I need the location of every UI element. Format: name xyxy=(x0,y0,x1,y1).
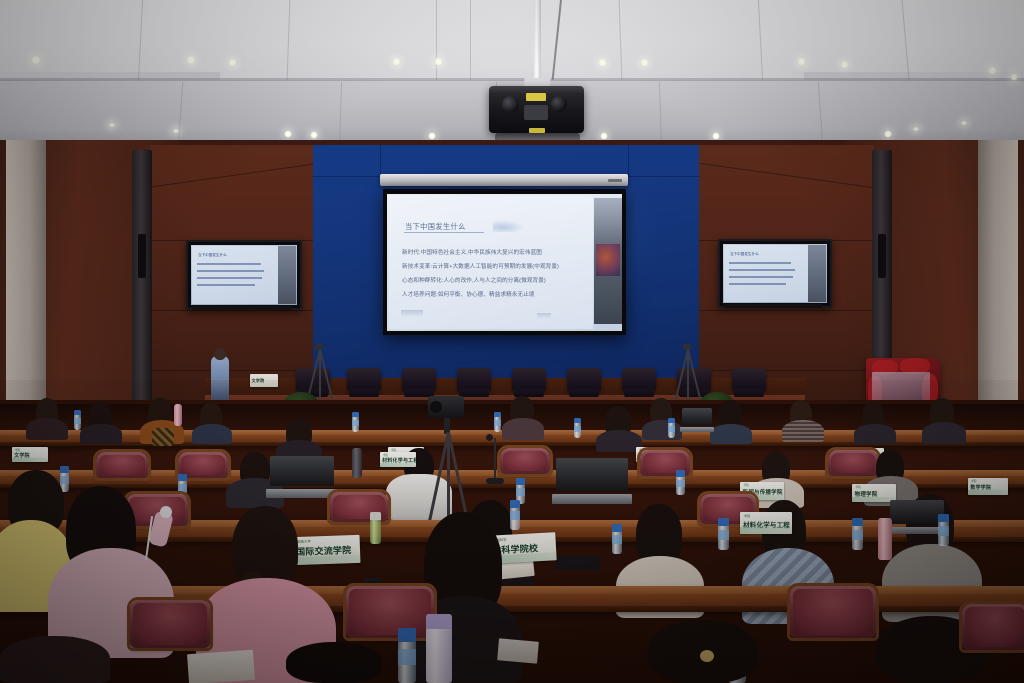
audience-chair xyxy=(828,450,878,476)
slide-bullet: 心态和种群转化:人心的改作,人与人之间的分离(微观背景) xyxy=(402,276,546,284)
ceiling-downlight xyxy=(434,57,443,66)
stage-chair xyxy=(512,368,546,390)
water-bottle xyxy=(398,628,416,683)
ceiling-downlight xyxy=(712,132,720,140)
left-monitor-slide-title: 当下中国发生什么 xyxy=(198,253,227,258)
water-bottle xyxy=(852,518,863,550)
thermos xyxy=(174,404,182,426)
audience-chair xyxy=(96,452,148,478)
wall-column-right xyxy=(978,140,1018,440)
audience-chair xyxy=(500,448,550,474)
stage-chair xyxy=(402,368,436,390)
desk-placard: 学院 文学院 xyxy=(12,447,48,462)
attendee-body xyxy=(192,424,232,444)
ceiling-seam xyxy=(470,0,471,80)
right-monitor-screen: 当下中国发生什么 xyxy=(723,244,827,303)
pink-thermos xyxy=(878,518,892,560)
wall-seam xyxy=(150,370,315,371)
ceiling-downlight xyxy=(598,58,607,67)
stage-tripod-right xyxy=(678,344,696,400)
water-bottle xyxy=(74,410,81,430)
water-bottle xyxy=(718,518,729,550)
laptop xyxy=(890,500,944,534)
audience-chair xyxy=(790,586,876,638)
ceiling-downlight xyxy=(228,58,237,67)
water-bottle xyxy=(612,524,622,554)
stage-chair xyxy=(622,368,656,390)
ceiling-downlight xyxy=(1010,73,1018,81)
stage-chair xyxy=(457,368,491,390)
laptop xyxy=(682,408,712,432)
green-drink-bottle xyxy=(370,512,381,544)
desk-placard: 学院 材料化学与工程 xyxy=(380,452,416,467)
microphone-base xyxy=(486,478,504,484)
right-monitor-slide-title: 当下中国发生什么 xyxy=(730,252,759,257)
foreground-body xyxy=(0,636,110,683)
audience-chair xyxy=(346,586,434,638)
left-monitor-shadow xyxy=(192,306,292,310)
thermos xyxy=(352,448,362,478)
desk-placard: 学院 数学学院 xyxy=(968,478,1008,495)
left-wall-monitor: 当下中国发生什么 xyxy=(186,240,302,310)
water-bottle xyxy=(574,418,581,438)
left-monitor-sidebar xyxy=(278,246,296,304)
right-monitor-slide: 当下中国发生什么 xyxy=(724,245,808,302)
left-monitor-slide: 当下中国发生什么 xyxy=(192,246,278,304)
attendee-body xyxy=(710,424,752,444)
hair-clip xyxy=(700,650,714,662)
wall-seam xyxy=(699,310,874,311)
screen-roller-casing xyxy=(380,174,628,186)
video-camera-rig[interactable] xyxy=(420,396,472,526)
screen-glare xyxy=(387,194,622,254)
ceiling-downlight xyxy=(600,132,608,140)
papers xyxy=(497,638,539,663)
right-monitor-shadow xyxy=(724,304,822,308)
ceiling-downlight xyxy=(428,132,436,140)
stage-placard: 文学院 xyxy=(250,374,278,387)
stage-chair xyxy=(347,368,381,390)
foreground-head xyxy=(286,642,382,683)
left-monitor-screen: 当下中国发生什么 xyxy=(191,245,297,305)
ceiling-downlight xyxy=(186,55,196,65)
attendee-body xyxy=(26,418,68,440)
stage-chair xyxy=(567,368,601,390)
microphone-head-icon xyxy=(486,434,493,441)
auditorium-photo: 当下中国发生什么 新时代:中国特色社会主义,中华民族伟大复兴的宏伟蓝图 新技术变… xyxy=(0,0,1024,683)
wall-speaker-left xyxy=(132,150,152,406)
water-bottle xyxy=(494,412,501,432)
water-bottle xyxy=(510,500,520,530)
placard-international-exchange-college: 湖南大学 国际交流学院 xyxy=(292,535,361,565)
slide-footer-right xyxy=(537,313,551,319)
water-bottle xyxy=(352,412,359,432)
ceiling-downlight xyxy=(640,58,649,67)
ceiling-downlight xyxy=(108,122,116,128)
laptop xyxy=(270,456,334,498)
presenter-head xyxy=(214,348,226,360)
projector-control-panel xyxy=(524,105,548,120)
attendee-body xyxy=(854,424,896,444)
ceiling-downlight xyxy=(392,57,401,66)
audience-chair xyxy=(130,600,210,648)
ceiling-seam xyxy=(436,0,437,80)
attendee-body xyxy=(502,418,544,440)
right-monitor-sidebar xyxy=(808,245,826,302)
stage-chair xyxy=(732,368,766,390)
projector-mount-pole xyxy=(534,0,541,84)
ceiling-downlight xyxy=(988,66,997,75)
stage-tripod-left xyxy=(310,344,328,400)
screen-casing-endcap xyxy=(608,179,622,182)
papers xyxy=(187,650,255,683)
slide-footer-left xyxy=(401,310,423,317)
projector-lens-icon xyxy=(502,96,519,113)
right-wall-monitor: 当下中国发生什么 xyxy=(718,239,832,308)
tablet-device xyxy=(556,556,600,570)
backdrop-seam xyxy=(628,145,629,177)
ceiling-downlight xyxy=(310,131,318,139)
ceiling-downlight xyxy=(284,130,292,138)
slide-bullet: 新技术变革:云计算+大数据人工智能的可预期的发展(中观背景) xyxy=(402,262,559,270)
slide-bullet: 人才培养问题:如何平衡、协心德、精益求精永无止境 xyxy=(402,290,535,298)
attendee-body xyxy=(642,420,682,440)
ceiling-downlight xyxy=(912,126,920,132)
wall-seam xyxy=(150,310,315,311)
leopard-bag xyxy=(152,428,174,446)
projector-logo xyxy=(529,128,545,133)
water-bottle xyxy=(668,418,675,438)
laptop xyxy=(556,458,628,504)
ceiling-seam-band xyxy=(0,78,1024,81)
ceiling-downlight xyxy=(840,60,849,69)
projector-vent-icon xyxy=(551,96,567,112)
water-bottle xyxy=(676,470,685,495)
ceiling-downlight xyxy=(31,55,41,65)
wall-seam xyxy=(699,370,874,371)
ceiling-downlight xyxy=(172,128,180,134)
desk-placard: 学院 材料化学与工程 xyxy=(740,512,792,534)
attendee-body xyxy=(80,424,122,444)
earphone-held xyxy=(160,506,172,518)
ceiling-downlight xyxy=(797,57,806,66)
gooseneck-microphone-stem xyxy=(494,438,496,480)
projector-badge xyxy=(526,93,546,101)
wall-column-left xyxy=(6,140,46,440)
backdrop-seam xyxy=(380,145,381,177)
ceiling-downlight xyxy=(960,120,968,126)
audience-chair xyxy=(962,604,1024,650)
attendee-body-checked xyxy=(782,420,824,442)
water-bottle xyxy=(938,514,949,546)
ceiling-downlight xyxy=(884,130,892,138)
thermos-flask xyxy=(426,614,452,683)
attendee-body xyxy=(922,422,966,444)
presenter-body xyxy=(211,356,229,402)
